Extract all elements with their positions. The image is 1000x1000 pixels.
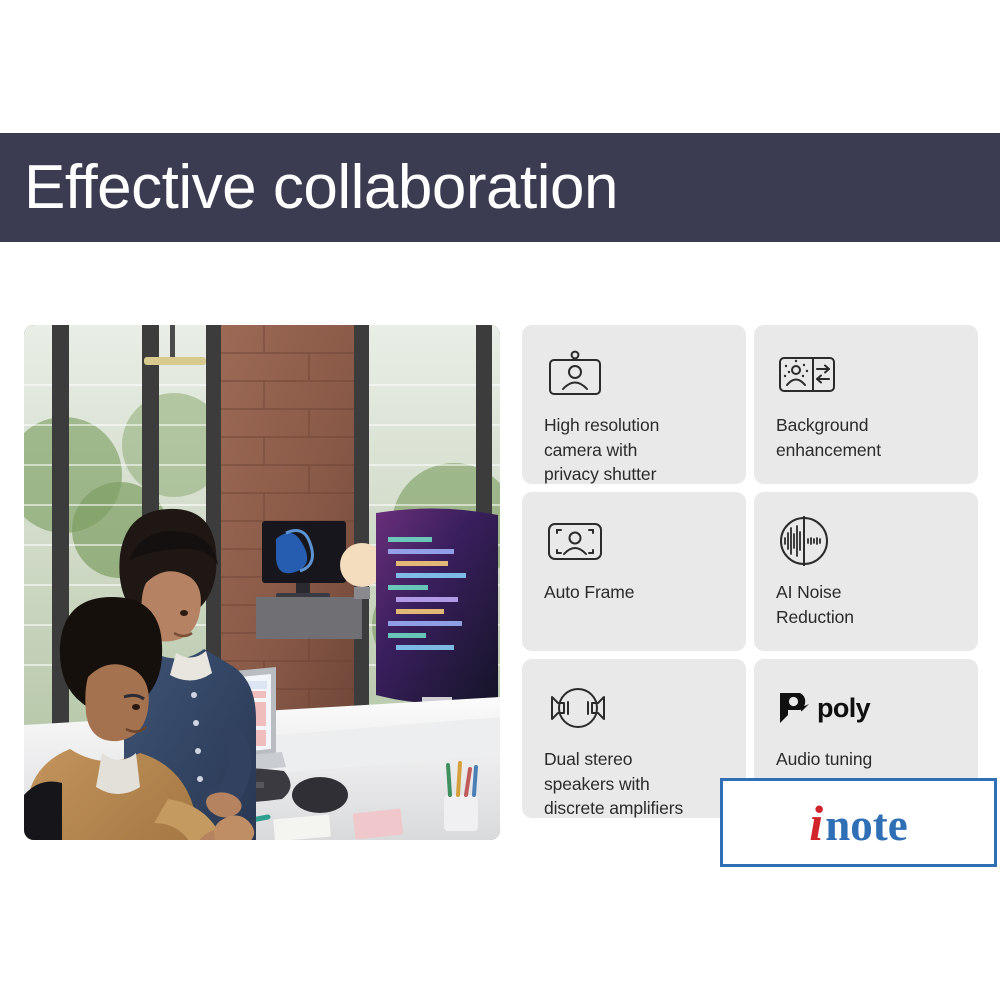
feature-card-label: High resolution camera with privacy shut… (544, 413, 726, 487)
header-bar: Effective collaboration (0, 133, 1000, 242)
feature-card-grid: High resolution camera with privacy shut… (522, 325, 978, 818)
poly-logo-icon: poly (776, 681, 958, 735)
feature-card-label: Dual stereo speakers with discrete ampli… (544, 747, 726, 821)
feature-card-label: AI Noise Reduction (776, 580, 958, 629)
feature-card-auto-frame[interactable]: Auto Frame (522, 492, 746, 651)
inote-word-note: note (825, 800, 908, 850)
dual-stereo-speaker-icon (544, 681, 726, 735)
ai-noise-reduction-icon (776, 514, 958, 568)
auto-frame-icon (544, 514, 726, 568)
feature-card-label: Audio tuning (776, 747, 958, 772)
camera-privacy-shutter-icon (544, 347, 726, 401)
inote-watermark: inote (720, 778, 997, 867)
feature-card-high-resolution-camera[interactable]: High resolution camera with privacy shut… (522, 325, 746, 484)
poly-wordmark: poly (817, 695, 870, 722)
feature-card-ai-noise-reduction[interactable]: AI Noise Reduction (754, 492, 978, 651)
feature-card-label: Background enhancement (776, 413, 958, 462)
page-title: Effective collaboration (24, 157, 618, 219)
feature-card-dual-stereo-speakers[interactable]: Dual stereo speakers with discrete ampli… (522, 659, 746, 818)
office-collaboration-photo (24, 325, 500, 840)
inote-letter-i: i (809, 795, 825, 851)
inote-logo-text: inote (809, 798, 907, 848)
feature-card-label: Auto Frame (544, 580, 726, 605)
feature-card-background-enhancement[interactable]: Background enhancement (754, 325, 978, 484)
background-enhancement-icon (776, 347, 958, 401)
